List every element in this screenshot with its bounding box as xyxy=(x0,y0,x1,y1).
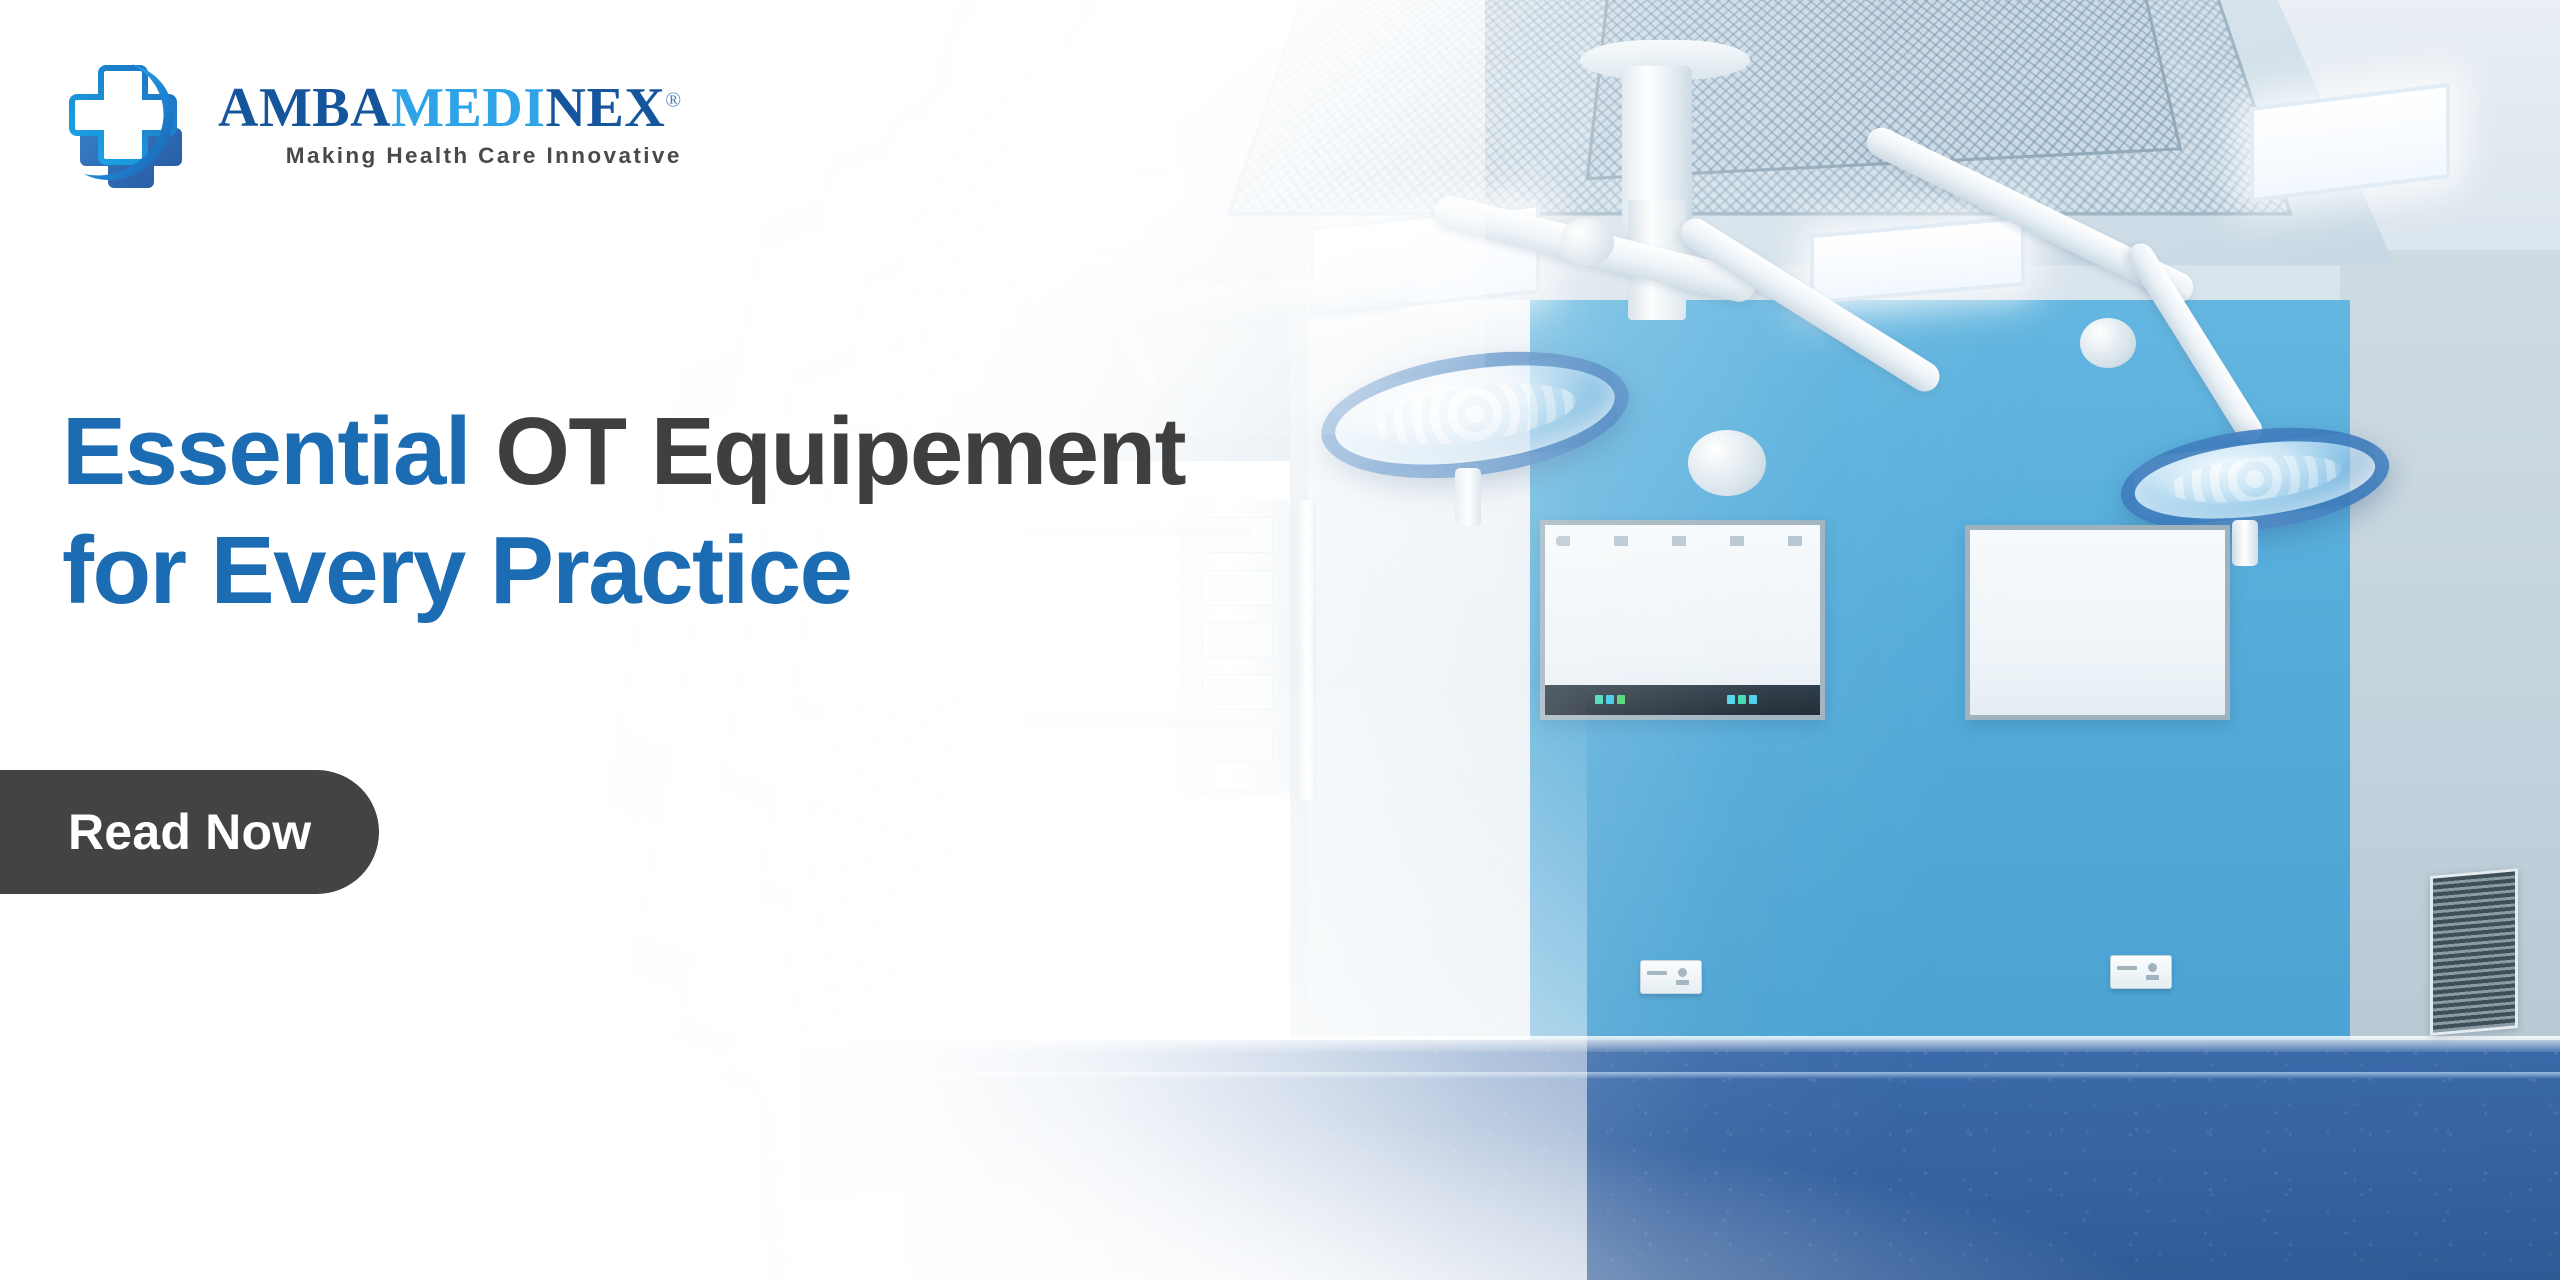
headline-rest: OT Equipement xyxy=(470,398,1185,505)
medical-cross-swoosh-icon xyxy=(62,60,194,188)
brand-tagline: Making Health Care Innovative xyxy=(218,143,682,169)
read-now-button[interactable]: Read Now xyxy=(0,770,379,894)
brand-wordmark: AMBAMEDINEX® Making Health Care Innovati… xyxy=(218,80,682,169)
headline-highlight: Essential xyxy=(62,398,470,505)
promo-banner: AMBAMEDINEX® Making Health Care Innovati… xyxy=(0,0,2560,1280)
headline-line-1: Essential OT Equipement xyxy=(62,392,1185,511)
page-title: Essential OT Equipement for Every Practi… xyxy=(62,392,1185,630)
brand-name: AMBAMEDINEX® xyxy=(218,80,682,136)
headline-line-2: for Every Practice xyxy=(62,511,1185,630)
brand-name-part-3: NEX xyxy=(546,77,666,139)
read-now-button-label: Read Now xyxy=(68,803,311,861)
brand-name-part-1: AMBA xyxy=(218,77,391,139)
brand-logo[interactable]: AMBAMEDINEX® Making Health Care Innovati… xyxy=(62,60,682,188)
brand-name-part-2: MEDI xyxy=(391,77,545,139)
registered-trademark-icon: ® xyxy=(665,87,681,111)
operating-theatre-photo xyxy=(0,0,2560,1280)
